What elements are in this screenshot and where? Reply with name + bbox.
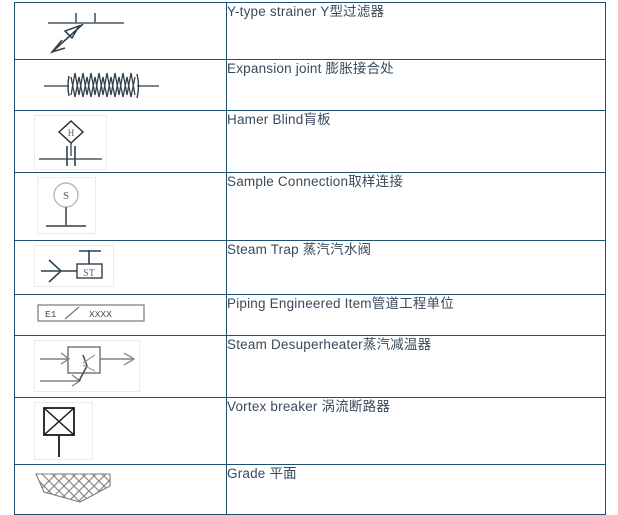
table-row: ST Steam Trap 蒸汽汽水阀	[15, 241, 606, 295]
symbol-description: Grade 平面	[227, 465, 605, 483]
description-cell: Vortex breaker 涡流断路器	[227, 398, 606, 465]
table-row: E1 XXXX Piping Engineered Item管道工程单位	[15, 295, 606, 336]
sample-connection-label: S	[63, 190, 69, 202]
vortex-breaker-symbol	[34, 402, 93, 460]
steam-trap-label: ST	[83, 268, 95, 279]
hamer-blind-symbol: H	[34, 115, 107, 170]
symbol-legend-table: Y-type strainer Y型过滤器 Expansion joint 膨胀…	[14, 2, 606, 515]
symbol-description: Steam Trap 蒸汽汽水阀	[227, 241, 605, 259]
description-cell: Piping Engineered Item管道工程单位	[227, 295, 606, 336]
symbol-cell	[15, 336, 227, 398]
table-row: Vortex breaker 涡流断路器	[15, 398, 606, 465]
symbol-cell: ST	[15, 241, 227, 295]
grade-symbol	[34, 472, 226, 508]
steam-desuperheater-symbol	[34, 340, 140, 392]
description-cell: Y-type strainer Y型过滤器	[227, 3, 606, 60]
symbol-description: Y-type strainer Y型过滤器	[227, 3, 605, 21]
table-row: S Sample Connection取样连接	[15, 173, 606, 241]
expansion-joint-symbol	[34, 64, 226, 108]
symbol-description: Steam Desuperheater蒸汽减温器	[227, 336, 605, 354]
description-cell: Expansion joint 膨胀接合处	[227, 60, 606, 111]
table-row: Grade 平面	[15, 465, 606, 515]
sample-connection-symbol: S	[37, 177, 96, 234]
piping-item-prefix-label: E1	[45, 309, 57, 320]
symbol-cell: H	[15, 111, 227, 173]
table-row: Y-type strainer Y型过滤器	[15, 3, 606, 60]
piping-item-number-label: XXXX	[89, 309, 112, 320]
steam-trap-symbol: ST	[34, 245, 114, 287]
description-cell: Steam Desuperheater蒸汽减温器	[227, 336, 606, 398]
y-type-strainer-symbol	[34, 7, 226, 57]
table-row: H Hamer Blind肓板	[15, 111, 606, 173]
description-cell: Grade 平面	[227, 465, 606, 515]
table-row: Expansion joint 膨胀接合处	[15, 60, 606, 111]
symbol-cell: E1 XXXX	[15, 295, 227, 336]
symbol-description: Expansion joint 膨胀接合处	[227, 60, 605, 78]
description-cell: Steam Trap 蒸汽汽水阀	[227, 241, 606, 295]
symbol-description: Hamer Blind肓板	[227, 111, 605, 129]
table-row: Steam Desuperheater蒸汽减温器	[15, 336, 606, 398]
piping-engineered-item-symbol: E1 XXXX	[37, 303, 226, 323]
hamer-blind-label: H	[68, 128, 75, 138]
symbol-cell	[15, 3, 227, 60]
symbol-cell	[15, 398, 227, 465]
description-cell: Sample Connection取样连接	[227, 173, 606, 241]
symbol-description: Sample Connection取样连接	[227, 173, 605, 191]
symbol-cell	[15, 60, 227, 111]
symbol-cell: S	[15, 173, 227, 241]
symbol-description: Vortex breaker 涡流断路器	[227, 398, 605, 416]
symbol-description: Piping Engineered Item管道工程单位	[227, 295, 605, 313]
description-cell: Hamer Blind肓板	[227, 111, 606, 173]
symbol-cell	[15, 465, 227, 515]
